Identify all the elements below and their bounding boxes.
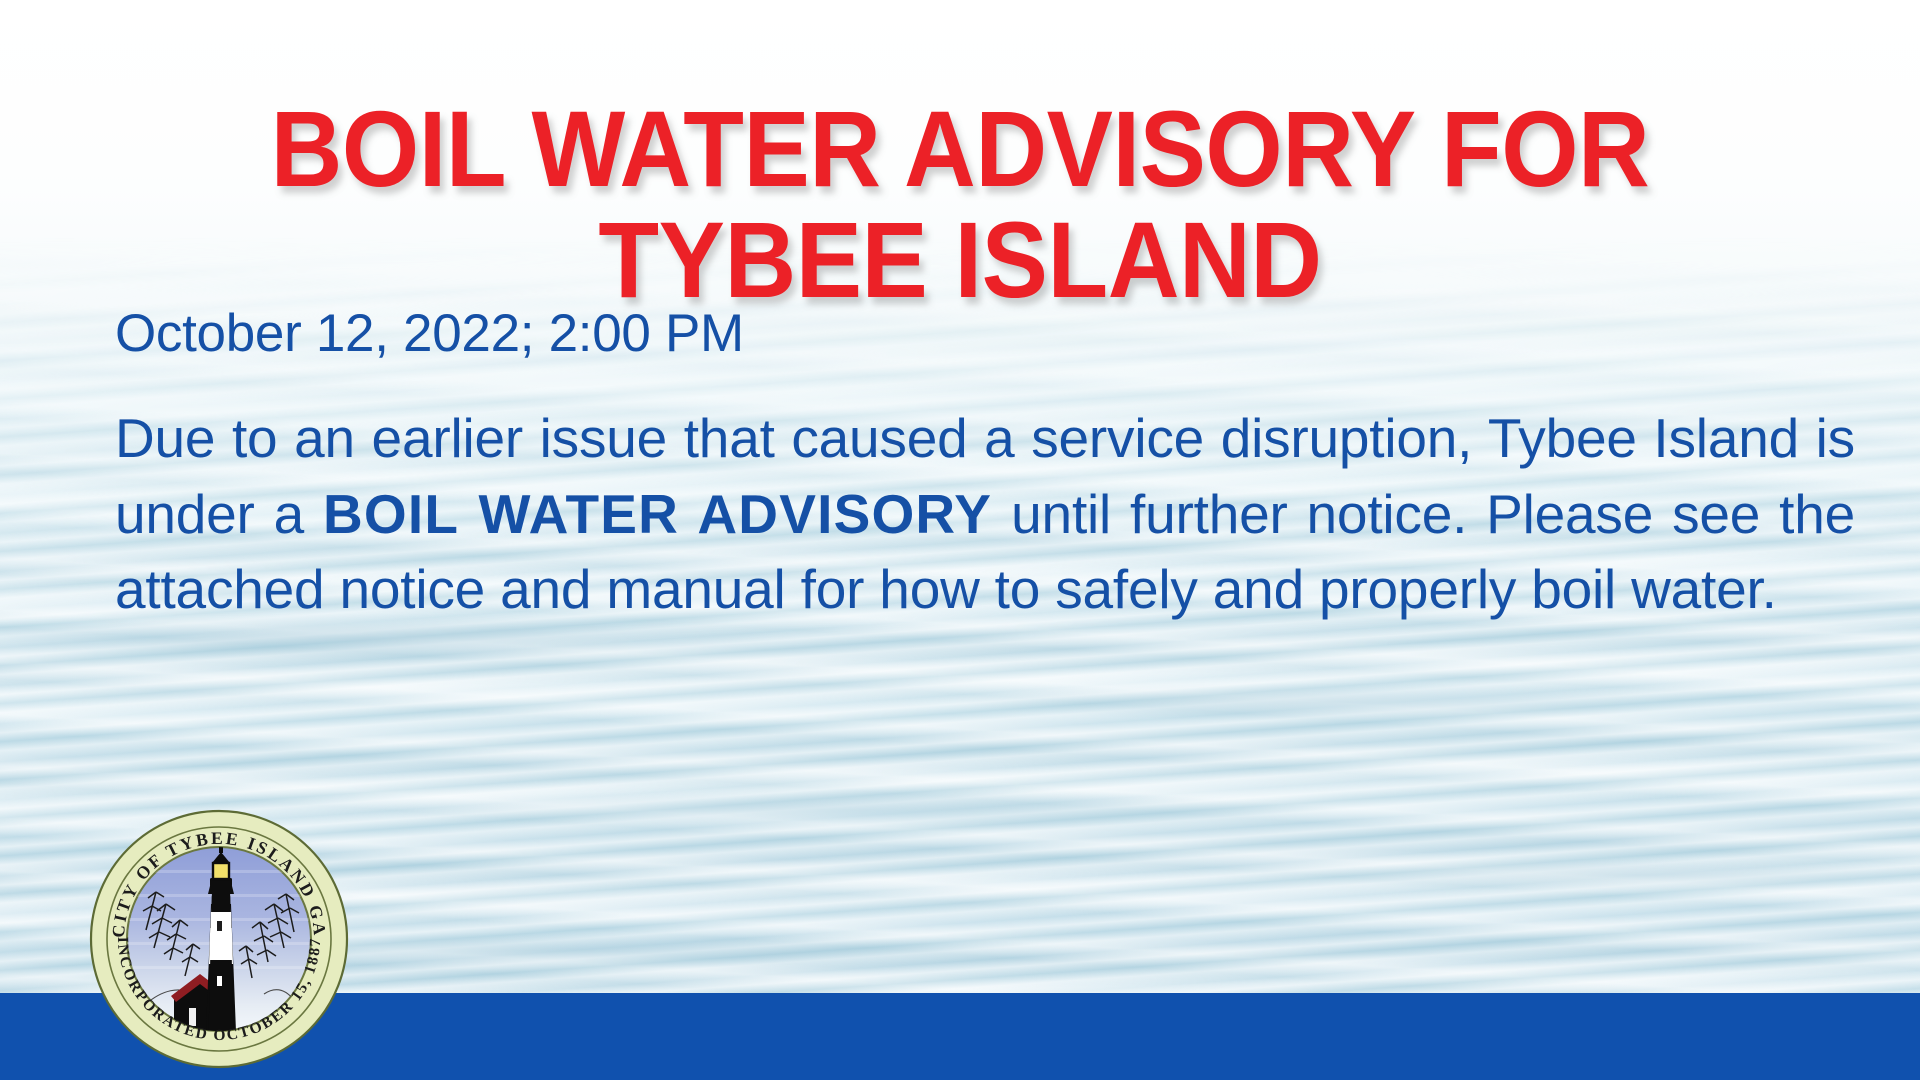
page-title: BOIL WATER ADVISORY FOR TYBEE ISLAND xyxy=(77,94,1843,314)
advisory-paragraph: Due to an earlier issue that caused a se… xyxy=(115,401,1855,627)
city-seal: CITY OF TYBEE ISLAND GA INCORPORATED OCT… xyxy=(88,808,350,1070)
notice-body: October 12, 2022; 2:00 PM Due to an earl… xyxy=(115,305,1855,627)
advisory-emphasis: BOIL WATER ADVISORY xyxy=(323,483,992,545)
date-time-line: October 12, 2022; 2:00 PM xyxy=(115,305,1855,363)
advisory-poster: BOIL WATER ADVISORY FOR TYBEE ISLAND Oct… xyxy=(0,0,1920,1080)
